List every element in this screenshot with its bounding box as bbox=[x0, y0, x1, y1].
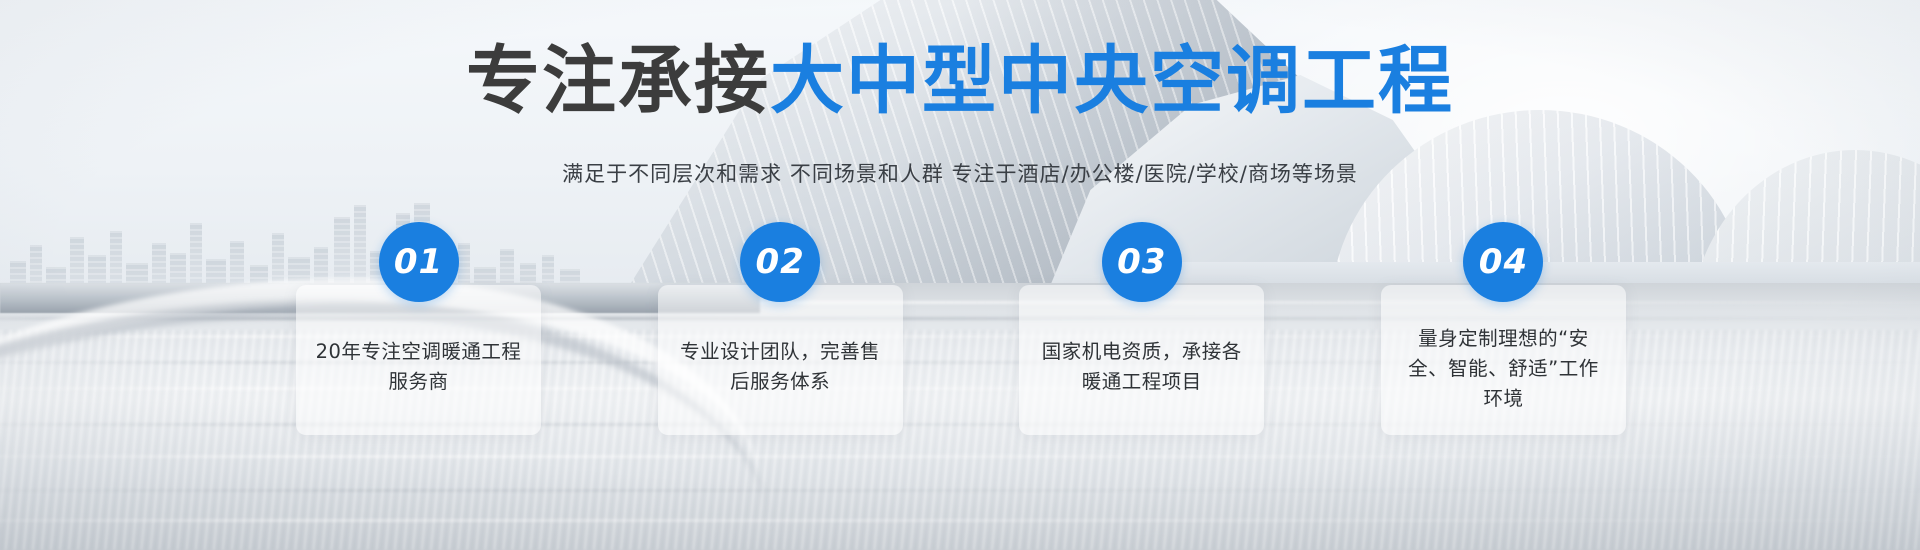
feature-badge-03: 03 bbox=[1102, 222, 1182, 302]
feature-badge-number: 01 bbox=[394, 242, 443, 282]
feature-badge-number: 02 bbox=[755, 242, 804, 282]
headline-accent-text: 大中型中央空调工程 bbox=[770, 38, 1454, 124]
feature-card-text: 专业设计团队，完善售后服务体系 bbox=[676, 337, 885, 397]
banner-subtitle: 满足于不同层次和需求 不同场景和人群 专注于酒店/办公楼/医院/学校/商场等场景 bbox=[0, 158, 1920, 188]
feature-card[interactable]: 03 国家机电资质，承接各暖通工程项目 bbox=[1019, 285, 1264, 435]
feature-badge-04: 04 bbox=[1463, 222, 1543, 302]
feature-badge-number: 03 bbox=[1117, 242, 1166, 282]
feature-badge-01: 01 bbox=[379, 222, 459, 302]
feature-card-text: 20年专注空调暖通工程服务商 bbox=[314, 337, 523, 397]
feature-card[interactable]: 01 20年专注空调暖通工程服务商 bbox=[296, 285, 541, 435]
feature-badge-02: 02 bbox=[740, 222, 820, 302]
feature-card-text: 国家机电资质，承接各暖通工程项目 bbox=[1037, 337, 1246, 397]
feature-card[interactable]: 04 量身定制理想的“安全、智能、舒适”工作环境 bbox=[1381, 285, 1626, 435]
feature-card-list: 01 20年专注空调暖通工程服务商 02 专业设计团队，完善售后服务体系 03 … bbox=[296, 285, 1626, 435]
banner-headline: 专注承接大中型中央空调工程 bbox=[0, 42, 1920, 122]
feature-badge-number: 04 bbox=[1479, 242, 1528, 282]
hero-banner: 专注承接大中型中央空调工程 满足于不同层次和需求 不同场景和人群 专注于酒店/办… bbox=[0, 0, 1920, 550]
feature-card[interactable]: 02 专业设计团队，完善售后服务体系 bbox=[658, 285, 903, 435]
feature-card-text: 量身定制理想的“安全、智能、舒适”工作环境 bbox=[1399, 324, 1608, 415]
headline-dark-text: 专注承接 bbox=[466, 38, 770, 124]
